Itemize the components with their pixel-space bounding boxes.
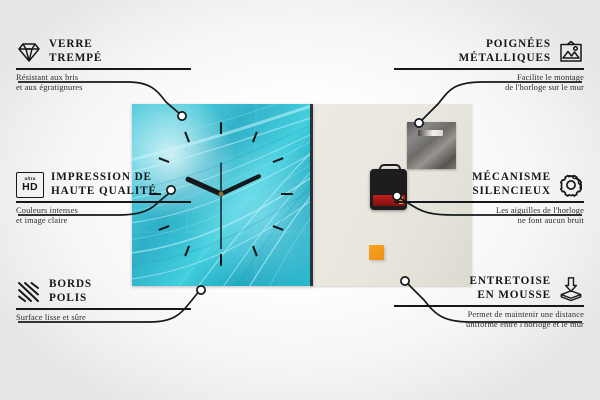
feature-desc: Permet de maintenir une distance uniform…	[394, 310, 584, 331]
title-line-1: ENTRETOISE	[469, 275, 551, 289]
feature-head: VERRE TREMPÉ	[16, 38, 191, 65]
feature-rule	[16, 68, 191, 70]
hd-icon-main-text: HD	[22, 182, 38, 193]
feature-rule	[16, 308, 191, 310]
connector-dot-poignees	[415, 119, 423, 127]
feature-title: BORDS POLIS	[49, 278, 92, 305]
title-line-2: MÉTALLIQUES	[459, 52, 551, 66]
ultra-hd-icon: ultra HD	[16, 172, 44, 198]
feature-rule	[394, 68, 584, 70]
connector-dot-bords-polis	[197, 286, 205, 294]
feature-title: VERRE TREMPÉ	[49, 38, 102, 65]
feature-desc: Surface lisse et sûre	[16, 313, 191, 324]
connector-dot-verre-trempe	[178, 112, 186, 120]
feature-title: IMPRESSION DE HAUTE QUALITÉ	[51, 171, 157, 198]
title-line-1: IMPRESSION DE	[51, 171, 157, 185]
title-line-2: SILENCIEUX	[472, 185, 551, 199]
diamond-icon	[16, 39, 42, 65]
title-line-1: MÉCANISME	[472, 171, 551, 185]
desc-line-1: Surface lisse et sûre	[16, 313, 191, 324]
desc-line-1: Résistant aux bris	[16, 73, 191, 84]
feature-title: MÉCANISME SILENCIEUX	[472, 171, 551, 198]
title-line-2: EN MOUSSE	[469, 289, 551, 303]
feature-head: ultra HD IMPRESSION DE HAUTE QUALITÉ	[16, 171, 191, 198]
desc-line-2: uniforme entre l'horloge et le mur	[394, 320, 584, 331]
feature-bords-polis: BORDS POLIS Surface lisse et sûre	[16, 278, 191, 323]
desc-line-2: et image claire	[16, 216, 191, 227]
feature-desc: Les aiguilles de l'horloge ne font aucun…	[394, 206, 584, 227]
desc-line-1: Permet de maintenir une distance	[394, 310, 584, 321]
desc-line-2: ne font aucun bruit	[394, 216, 584, 227]
feature-rule	[394, 201, 584, 203]
feature-desc: Couleurs intenses et image claire	[16, 206, 191, 227]
gear-icon	[558, 172, 584, 198]
polished-edge-lines-icon	[16, 279, 42, 305]
feature-rule	[394, 305, 584, 307]
feature-mecanisme-silencieux: MÉCANISME SILENCIEUX Les aiguilles de l'…	[394, 171, 584, 227]
title-line-1: VERRE	[49, 38, 102, 52]
feature-verre-trempe: VERRE TREMPÉ Résistant aux bris et aux é…	[16, 38, 191, 94]
desc-line-2: et aux égratignures	[16, 83, 191, 94]
feature-impression-haute-qualite: ultra HD IMPRESSION DE HAUTE QUALITÉ Cou…	[16, 171, 191, 227]
feature-entretoise-en-mousse: ENTRETOISE EN MOUSSE Permet de maintenir…	[394, 275, 584, 331]
feature-desc: Facilite le montage de l'horloge sur le …	[394, 73, 584, 94]
title-line-2: TREMPÉ	[49, 52, 102, 66]
feature-head: ENTRETOISE EN MOUSSE	[394, 275, 584, 302]
title-line-2: POLIS	[49, 292, 92, 306]
title-line-2: HAUTE QUALITÉ	[51, 185, 157, 199]
feature-desc: Résistant aux bris et aux égratignures	[16, 73, 191, 94]
desc-line-2: de l'horloge sur le mur	[394, 83, 584, 94]
title-line-1: POIGNÉES	[459, 38, 551, 52]
feature-title: ENTRETOISE EN MOUSSE	[469, 275, 551, 302]
feature-head: MÉCANISME SILENCIEUX	[394, 171, 584, 198]
desc-line-1: Les aiguilles de l'horloge	[394, 206, 584, 217]
feature-rule	[16, 201, 191, 203]
infographic-canvas: VERRE TREMPÉ Résistant aux bris et aux é…	[0, 0, 600, 400]
desc-line-1: Couleurs intenses	[16, 206, 191, 217]
title-line-1: BORDS	[49, 278, 92, 292]
picture-frame-icon	[558, 39, 584, 65]
feature-head: BORDS POLIS	[16, 278, 191, 305]
feature-poignees-metalliques: POIGNÉES MÉTALLIQUES Facilite le montage…	[394, 38, 584, 94]
desc-line-1: Facilite le montage	[394, 73, 584, 84]
down-arrow-pad-icon	[558, 276, 584, 302]
feature-title: POIGNÉES MÉTALLIQUES	[459, 38, 551, 65]
feature-head: POIGNÉES MÉTALLIQUES	[394, 38, 584, 65]
